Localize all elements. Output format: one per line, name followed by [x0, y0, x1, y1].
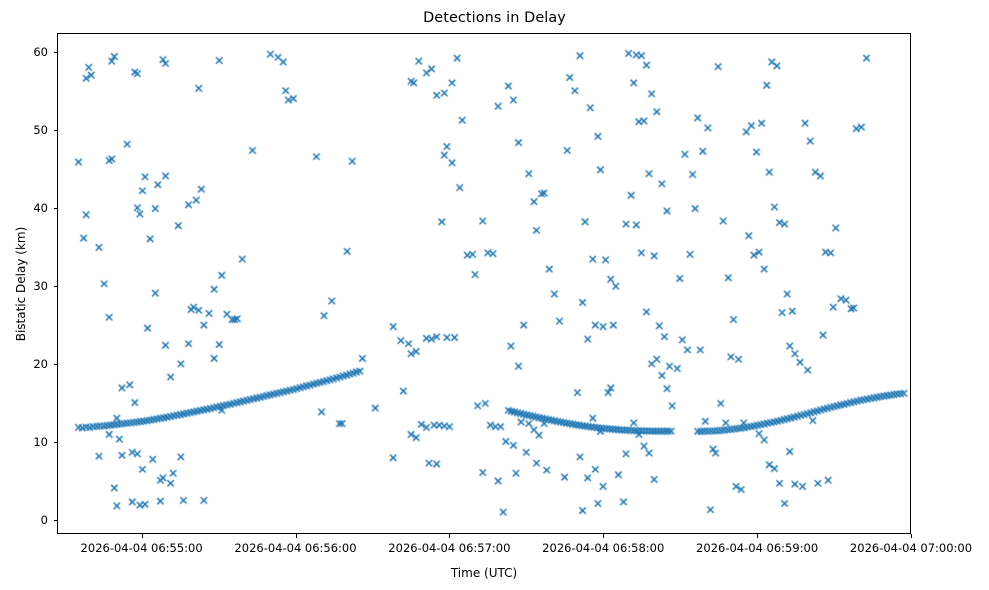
- y-tick-mark: [54, 442, 58, 443]
- x-tick-mark: [296, 534, 297, 538]
- y-tick-mark: [54, 130, 58, 131]
- chart-title: Detections in Delay: [0, 10, 989, 26]
- y-tick-mark: [54, 286, 58, 287]
- y-tick-label: 60: [0, 45, 48, 59]
- plot-axes: [57, 33, 911, 534]
- y-tick-mark: [54, 208, 58, 209]
- x-tick-mark: [449, 534, 450, 538]
- x-tick-label: 2026-04-04 06:59:00: [696, 541, 818, 555]
- y-axis-label: Bistatic Delay (km): [14, 226, 28, 341]
- x-tick-label: 2026-04-04 06:58:00: [542, 541, 664, 555]
- y-tick-label: 10: [0, 435, 48, 449]
- x-tick-mark: [142, 534, 143, 538]
- y-tick-mark: [54, 364, 58, 365]
- x-axis-label: Time (UTC): [451, 566, 517, 580]
- x-tick-mark: [911, 534, 912, 538]
- x-tick-label: 2026-04-04 07:00:00: [850, 541, 972, 555]
- y-tick-label: 0: [0, 513, 48, 527]
- scatter-plot-canvas: [58, 34, 910, 533]
- y-tick-label: 20: [0, 357, 48, 371]
- y-tick-label: 40: [0, 201, 48, 215]
- x-tick-mark: [603, 534, 604, 538]
- x-tick-mark: [757, 534, 758, 538]
- matplotlib-figure: Detections in Delay 0102030405060 2026-0…: [0, 0, 989, 590]
- y-tick-mark: [54, 52, 58, 53]
- y-tick-label: 50: [0, 123, 48, 137]
- x-tick-label: 2026-04-04 06:55:00: [81, 541, 203, 555]
- x-tick-label: 2026-04-04 06:56:00: [234, 541, 356, 555]
- y-tick-mark: [54, 520, 58, 521]
- x-tick-label: 2026-04-04 06:57:00: [388, 541, 510, 555]
